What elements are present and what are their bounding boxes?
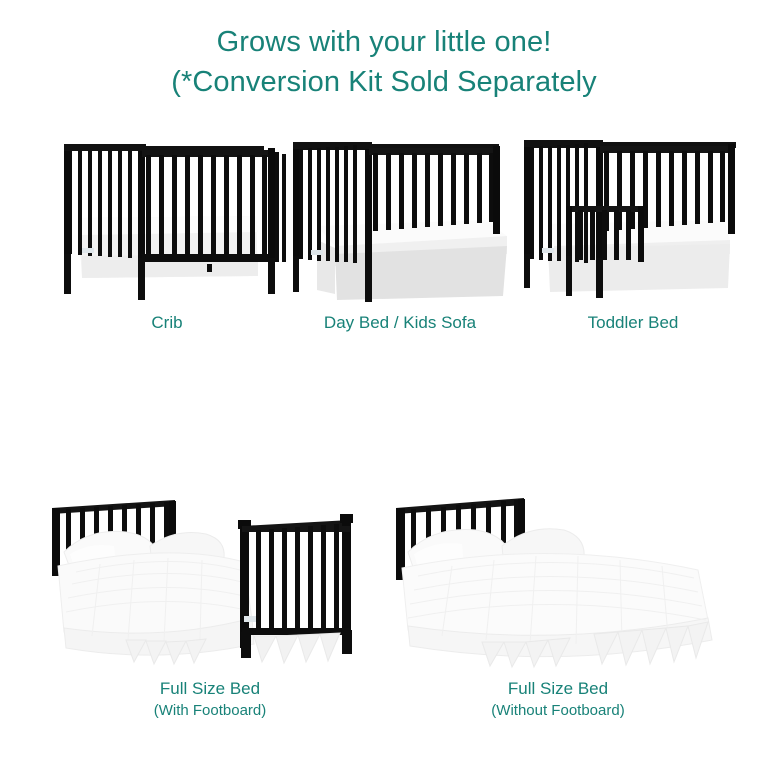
caption-full-bed-with-footboard-label: Full Size Bed <box>160 679 260 698</box>
caption-full-bed-with-footboard-sublabel: (With Footboard) <box>30 700 390 721</box>
full-bed-without-footboard-illustration <box>378 480 738 675</box>
caption-full-bed-with-footboard: Full Size Bed (With Footboard) <box>30 678 390 721</box>
caption-toddler-bed-label: Toddler Bed <box>588 313 679 332</box>
crib-icon <box>42 128 292 303</box>
product-conversion-infographic: Grows with your little one! (*Conversion… <box>0 0 768 768</box>
caption-day-bed: Day Bed / Kids Sofa <box>275 312 525 334</box>
config-tile-full-bed-with-footboard: Full Size Bed (With Footboard) <box>30 480 390 675</box>
config-tile-day-bed: Day Bed / Kids Sofa <box>275 128 525 303</box>
caption-crib-label: Crib <box>151 313 182 332</box>
conversion-row-bottom: Full Size Bed (With Footboard) <box>0 480 768 740</box>
toddler-bed-icon <box>508 128 758 303</box>
caption-full-bed-without-footboard-sublabel: (Without Footboard) <box>378 700 738 721</box>
full-bed-without-footboard-icon <box>378 480 738 675</box>
day-bed-illustration <box>275 128 525 303</box>
caption-full-bed-without-footboard: Full Size Bed (Without Footboard) <box>378 678 738 721</box>
full-bed-with-footboard-illustration <box>30 480 390 675</box>
caption-day-bed-label: Day Bed / Kids Sofa <box>324 313 476 332</box>
page-title: Grows with your little one! (*Conversion… <box>0 22 768 102</box>
config-tile-full-bed-without-footboard: Full Size Bed (Without Footboard) <box>378 480 738 675</box>
headline-line-2: (*Conversion Kit Sold Separately <box>0 62 768 102</box>
headline-line-1: Grows with your little one! <box>0 22 768 62</box>
config-tile-toddler-bed: Toddler Bed <box>508 128 758 303</box>
crib-illustration <box>42 128 292 303</box>
config-tile-crib: Crib <box>42 128 292 303</box>
caption-full-bed-without-footboard-label: Full Size Bed <box>508 679 608 698</box>
day-bed-icon <box>275 128 525 303</box>
toddler-bed-illustration <box>508 128 758 303</box>
caption-toddler-bed: Toddler Bed <box>508 312 758 334</box>
caption-crib: Crib <box>42 312 292 334</box>
full-bed-with-footboard-icon <box>30 480 390 675</box>
conversion-row-top: Crib <box>0 128 768 348</box>
